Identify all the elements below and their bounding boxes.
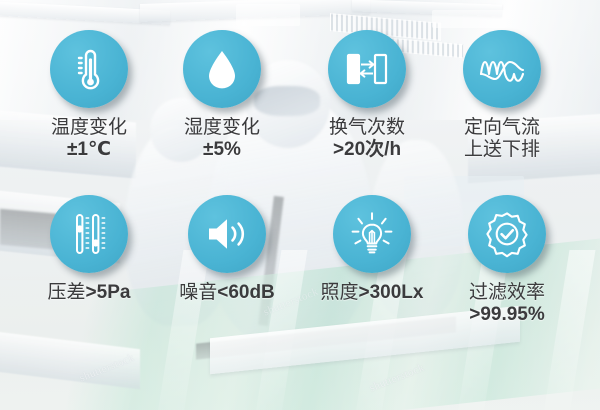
icon-circle-humidity[interactable] (183, 30, 261, 108)
tile-illuminance[interactable]: 照度>300Lx (297, 195, 447, 304)
icon-circle-air-changes[interactable] (328, 30, 406, 108)
tile-label-noise: 噪音<60dB (152, 282, 302, 304)
air-exchange-icon (344, 48, 390, 90)
tile-air-changes[interactable]: 换气次数 >20次/h (292, 30, 442, 161)
filter-badge-icon (483, 210, 531, 258)
airflow-wave-icon (478, 50, 526, 88)
tile-label-temperature: 温度变化 ±1℃ (14, 117, 164, 161)
infographic-stage: shutterstock shutterstock shutterstock 温… (0, 0, 600, 410)
icon-circle-noise[interactable] (188, 195, 266, 273)
label-line-1: 定向气流 (427, 117, 577, 139)
thermometer-icon (68, 46, 110, 92)
icon-circle-temperature[interactable] (50, 30, 128, 108)
tile-label-pressure-difference: 压差>5Pa (14, 282, 164, 304)
label-line-1: 湿度变化 (147, 117, 297, 139)
label-line-2: ±5% (147, 139, 297, 161)
tile-label-illuminance: 照度>300Lx (297, 282, 447, 304)
label-line-combined: 照度>300Lx (297, 282, 447, 304)
label-line-1: 噪音 (179, 282, 217, 303)
label-line-2: >300Lx (359, 282, 424, 303)
label-line-2: >20次/h (292, 139, 442, 161)
water-drop-icon (202, 46, 242, 92)
tile-temperature[interactable]: 温度变化 ±1℃ (14, 30, 164, 161)
tile-noise[interactable]: 噪音<60dB (152, 195, 302, 304)
tile-label-filter-efficiency: 过滤效率 >99.95% (432, 282, 582, 326)
tile-filter-efficiency[interactable]: 过滤效率 >99.95% (432, 195, 582, 326)
label-line-1: 温度变化 (14, 117, 164, 139)
label-line-1: 换气次数 (292, 117, 442, 139)
label-line-2: <60dB (217, 282, 275, 303)
label-line-2: >99.95% (432, 304, 582, 326)
icon-circle-pressure-difference[interactable] (50, 195, 128, 273)
label-line-1: 照度 (321, 282, 359, 303)
tile-directional-airflow[interactable]: 定向气流 上送下排 (427, 30, 577, 161)
label-line-2: >5Pa (86, 282, 131, 303)
label-line-2: ±1℃ (14, 139, 164, 161)
label-line-combined: 噪音<60dB (152, 282, 302, 304)
tile-label-humidity: 湿度变化 ±5% (147, 117, 297, 161)
tile-pressure-difference[interactable]: 压差>5Pa (14, 195, 164, 304)
lightbulb-icon (348, 210, 396, 258)
label-line-1: 过滤效率 (432, 282, 582, 304)
tile-label-directional-airflow: 定向气流 上送下排 (427, 117, 577, 161)
icon-circle-filter-efficiency[interactable] (468, 195, 546, 273)
pressure-slider-icon (69, 211, 109, 257)
icon-circle-illuminance[interactable] (333, 195, 411, 273)
tile-label-air-changes: 换气次数 >20次/h (292, 117, 442, 161)
label-line-1: 压差 (48, 282, 86, 303)
speaker-icon (204, 214, 250, 254)
label-line-combined: 压差>5Pa (14, 282, 164, 304)
label-line-2: 上送下排 (427, 139, 577, 161)
tile-humidity[interactable]: 湿度变化 ±5% (147, 30, 297, 161)
icon-circle-directional-airflow[interactable] (463, 30, 541, 108)
